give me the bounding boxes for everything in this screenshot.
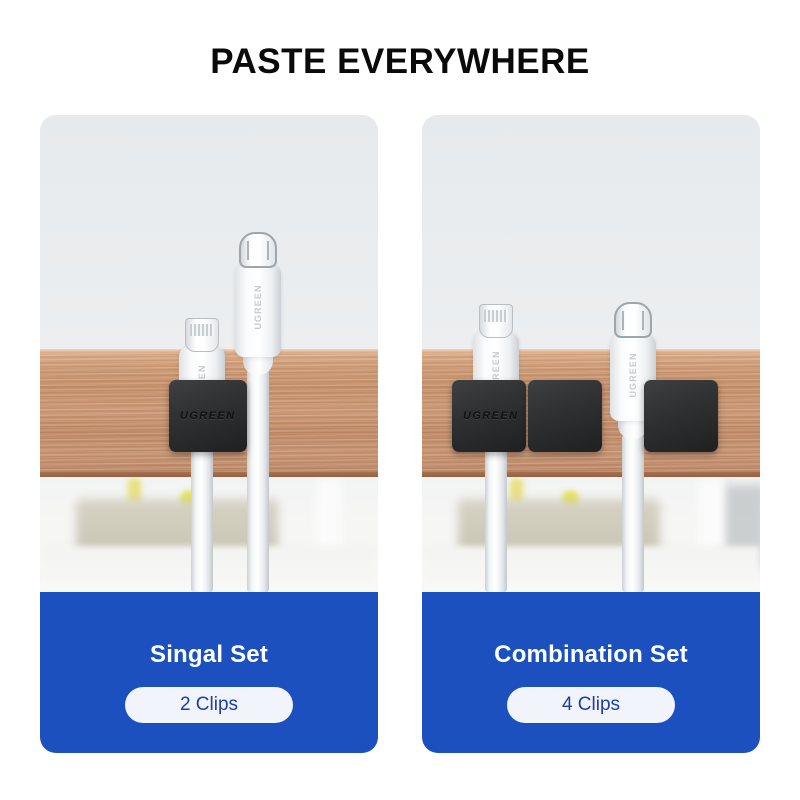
clip-count-badge[interactable]: 2 Clips [125,687,293,723]
product-photo-singal-set: UGREEN UGREEN UGREEN [40,115,378,592]
lightning-cable-body [191,447,213,592]
lightning-connector-tip [479,304,513,338]
usb-c-cable-body [622,435,644,592]
product-photo-combination-set: UGREEN UGREEN UGREEN [422,115,760,592]
product-card-combination-set[interactable]: UGREEN UGREEN UGREEN Combination Set 4 C… [422,115,760,753]
usb-c-connector-brand: UGREEN [628,352,638,397]
product-card-singal-set[interactable]: UGREEN UGREEN UGREEN Singal Set 2 Clips [40,115,378,753]
wall-background [422,115,760,349]
page-title: PASTE EVERYWHERE [0,40,800,84]
usb-c-connector-housing: UGREEN [235,265,281,357]
wall-background [40,115,378,349]
blurred-room-background [422,477,760,592]
lightning-connector-tip [185,318,219,352]
product-footer-singal-set: Singal Set 2 Clips [40,592,378,753]
clip-count-badge[interactable]: 4 Clips [507,687,675,723]
blurred-lamp [698,479,724,551]
usb-c-connector-brand: UGREEN [253,285,263,330]
cable-clip-module[interactable] [644,380,718,452]
product-footer-combination-set: Combination Set 4 Clips [422,592,760,753]
usb-c-connector-tip [239,232,277,268]
clip-brand-label: UGREEN [463,410,518,422]
cable-clip-module[interactable]: UGREEN [169,380,247,452]
blurred-floor [422,546,760,592]
usb-c-connector-tip [614,302,652,338]
product-title: Combination Set [494,641,688,669]
cable-clip-module[interactable] [528,380,602,452]
clip-brand-label: UGREEN [180,410,235,422]
product-card-grid: UGREEN UGREEN UGREEN Singal Set 2 Clips [40,115,760,753]
usb-c-cable-body [247,370,269,592]
blurred-lamp [316,479,342,551]
product-title: Singal Set [150,641,268,669]
cable-clip-module[interactable]: UGREEN [452,380,526,452]
lightning-cable-body [485,433,507,592]
